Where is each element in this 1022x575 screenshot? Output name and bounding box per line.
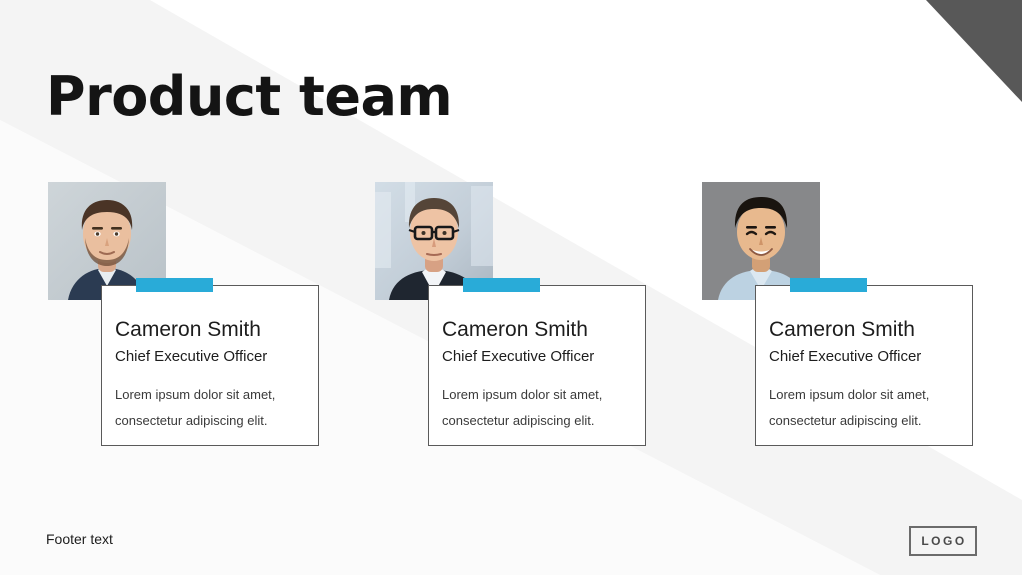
accent-bar-decoration bbox=[790, 278, 867, 292]
member-name: Cameron Smith bbox=[769, 317, 915, 342]
footer-text: Footer text bbox=[46, 529, 113, 549]
member-name: Cameron Smith bbox=[115, 317, 261, 342]
page-title: Product team bbox=[46, 66, 452, 128]
member-bio: Lorem ipsum dolor sit amet, consectetur … bbox=[769, 382, 959, 434]
member-name: Cameron Smith bbox=[442, 317, 588, 342]
accent-bar-decoration bbox=[463, 278, 540, 292]
logo-placeholder: LOGO bbox=[909, 526, 977, 556]
slide-canvas: Product team bbox=[0, 0, 1022, 575]
member-bio: Lorem ipsum dolor sit amet, consectetur … bbox=[442, 382, 632, 434]
member-role: Chief Executive Officer bbox=[769, 347, 921, 366]
member-bio: Lorem ipsum dolor sit amet, consectetur … bbox=[115, 382, 305, 434]
member-role: Chief Executive Officer bbox=[442, 347, 594, 366]
logo-label: LOGO bbox=[919, 534, 966, 548]
corner-triangle-decoration bbox=[926, 0, 1022, 102]
member-role: Chief Executive Officer bbox=[115, 347, 267, 366]
accent-bar-decoration bbox=[136, 278, 213, 292]
